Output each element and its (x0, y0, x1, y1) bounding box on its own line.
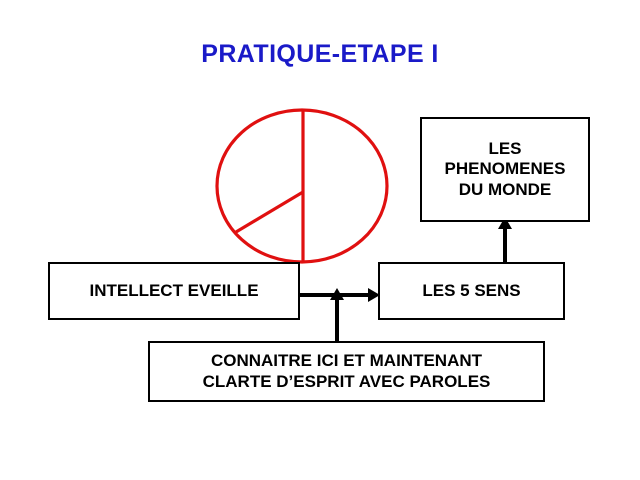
pie-circle-diagram (212, 106, 392, 266)
box-intellect-label: INTELLECT EVEILLE (89, 281, 258, 301)
box-connaitre-label: CONNAITRE ICI ET MAINTENANT CLARTE D’ESP… (203, 351, 491, 391)
box-connaitre-ici-et-maintenant[interactable]: CONNAITRE ICI ET MAINTENANT CLARTE D’ESP… (148, 341, 545, 402)
box-phenomenes-line-3: DU MONDE (459, 180, 552, 199)
pie-circle-svg (212, 106, 392, 266)
box-phenomenes-label: LES PHENOMENES DU MONDE (445, 139, 566, 199)
box-sens-label: LES 5 SENS (422, 281, 520, 301)
box-connaitre-line-1: CONNAITRE ICI ET MAINTENANT (211, 351, 482, 370)
connector-connaitre-to-sens (335, 295, 339, 343)
box-phenomenes-line-2: PHENOMENES (445, 159, 566, 178)
box-phenomenes-line-1: LES (488, 139, 521, 158)
box-les-phenomenes-du-monde[interactable]: LES PHENOMENES DU MONDE (420, 117, 590, 222)
circle-radius-line (236, 192, 303, 232)
box-intellect-eveille[interactable]: INTELLECT EVEILLE (48, 262, 300, 320)
connector-sens-to-phenomenes (503, 226, 507, 264)
page-title: PRATIQUE-ETAPE I (0, 40, 640, 69)
box-les-5-sens[interactable]: LES 5 SENS (378, 262, 565, 320)
arrowhead-from-connaitre-icon (330, 288, 344, 300)
box-connaitre-line-2: CLARTE D’ESPRIT AVEC PAROLES (203, 372, 491, 391)
slide-canvas: PRATIQUE-ETAPE I LES PHENOMENES DU MONDE… (0, 0, 640, 480)
